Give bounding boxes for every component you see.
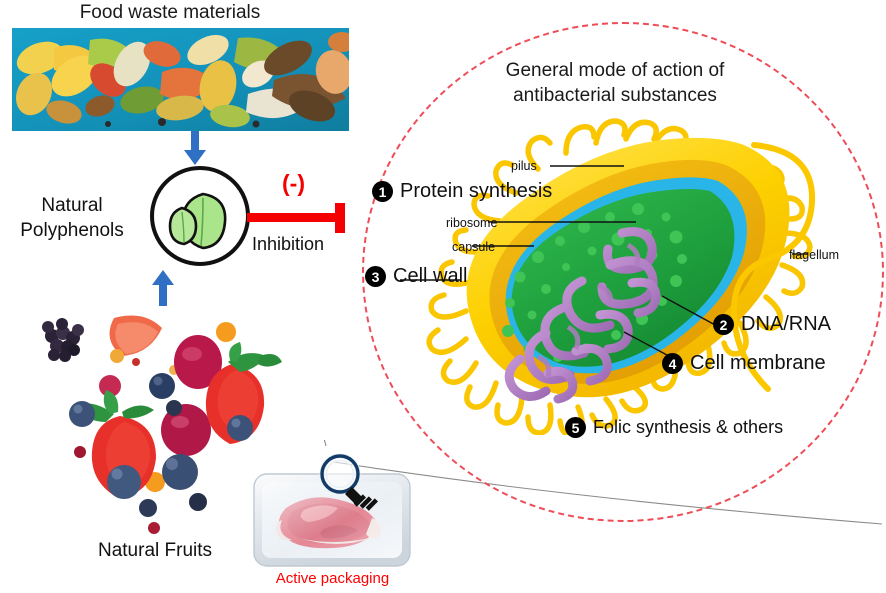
capsule-label: capsule — [452, 240, 495, 254]
natural-fruits-label: Natural Fruits — [30, 540, 280, 562]
natural-polyphenols-label: Natural Polyphenols — [8, 193, 136, 243]
callout-cell-wall: 3 Cell wall — [365, 265, 467, 288]
callout-number-5: 5 — [565, 417, 586, 438]
callout-number-2: 2 — [713, 314, 734, 335]
callout-label-5: Folic synthesis & others — [593, 417, 783, 438]
polyphenols-line-2: Polyphenols — [8, 218, 136, 243]
magnifying-glass-icon — [316, 452, 378, 514]
flagellum-label: flagellum — [789, 248, 839, 262]
arrow-down-icon — [182, 131, 208, 167]
leaf-icon — [148, 164, 252, 268]
callout-number-1: 1 — [372, 181, 393, 202]
food-waste-image — [12, 28, 349, 131]
callout-label-1: Protein synthesis — [400, 180, 552, 203]
callout-number-3: 3 — [365, 266, 386, 287]
callout-number-4: 4 — [662, 353, 683, 374]
callout-label-4: Cell membrane — [690, 352, 826, 375]
callout-cell-membrane: 4 Cell membrane — [662, 352, 826, 375]
callout-protein-synthesis: 1 Protein synthesis — [372, 180, 552, 203]
polyphenols-line-1: Natural — [8, 193, 136, 218]
panel-title-line-1: General mode of action of — [470, 58, 760, 83]
pilus-label: pilus — [511, 159, 537, 173]
inhibition-arrow-icon — [247, 203, 351, 233]
inhibition-label: Inhibition — [252, 234, 324, 255]
callout-dna-rna: 2 DNA/RNA — [713, 313, 831, 336]
callout-label-2: DNA/RNA — [741, 313, 831, 336]
callout-folic-synthesis: 5 Folic synthesis & others — [565, 417, 783, 438]
ribosome-label: ribosome — [446, 216, 497, 230]
inhibition-minus-symbol: (-) — [282, 170, 305, 197]
food-waste-title: Food waste materials — [0, 2, 340, 24]
callout-label-3: Cell wall — [393, 265, 467, 288]
active-packaging-label: Active packaging — [250, 570, 415, 587]
